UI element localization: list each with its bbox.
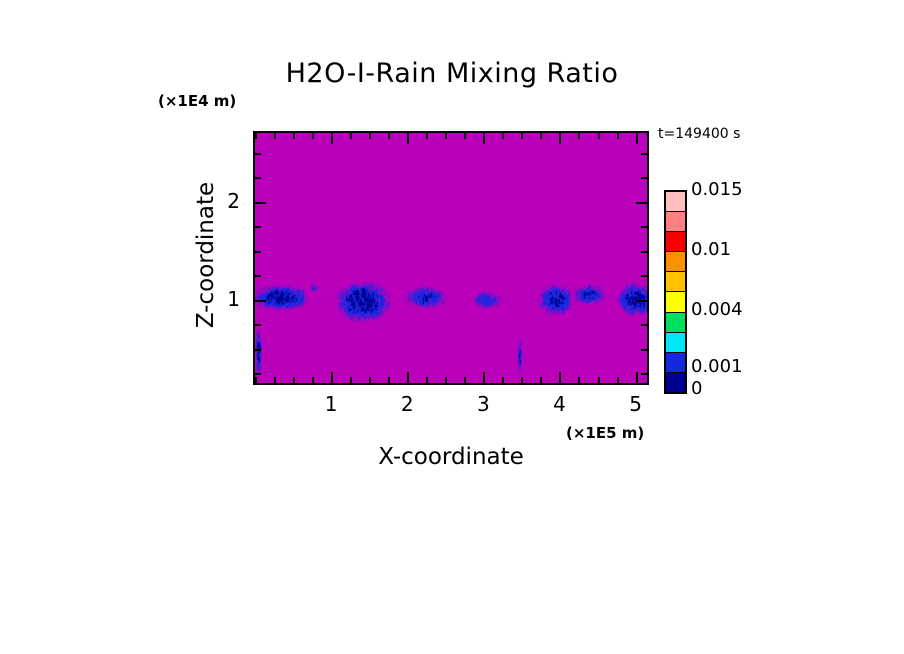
colorbar-band (666, 353, 685, 373)
x-major-tick (636, 372, 638, 383)
x-major-tick (559, 372, 561, 383)
colorbar-band (666, 252, 685, 272)
y-major-tick (255, 300, 266, 302)
y-minor-tick (255, 153, 261, 155)
y-minor-tick (255, 373, 261, 375)
y-major-tick (255, 202, 266, 204)
x-minor-tick (350, 377, 352, 383)
y-minor-tick-right (641, 275, 647, 277)
x-major-tick-top (407, 133, 409, 144)
x-axis-unit-label: (×1E5 m) (566, 424, 644, 442)
y-minor-tick (255, 349, 261, 351)
x-minor-tick (426, 377, 428, 383)
x-minor-tick (464, 377, 466, 383)
colorbar-band (666, 192, 685, 212)
x-minor-tick (445, 377, 447, 383)
y-axis-title: Z-coordinate (193, 95, 219, 415)
x-minor-tick (578, 377, 580, 383)
colorbar-band (666, 313, 685, 333)
y-minor-tick-right (641, 153, 647, 155)
x-minor-tick-top (578, 133, 580, 139)
colorbar-band (666, 272, 685, 292)
y-minor-tick (255, 251, 261, 253)
x-minor-tick-top (426, 133, 428, 139)
x-minor-tick (598, 377, 600, 383)
y-minor-tick-right (641, 349, 647, 351)
x-minor-tick-top (540, 133, 542, 139)
x-axis-title: X-coordinate (253, 444, 649, 470)
colorbar-tick-label: 0.004 (691, 299, 743, 320)
colorbar-band (666, 232, 685, 252)
colorbar-tick-label: 0.01 (691, 239, 731, 260)
colorbar-tick-label: 0.015 (691, 179, 743, 200)
x-minor-tick (293, 377, 295, 383)
x-minor-tick-top (369, 133, 371, 139)
x-major-tick-top (331, 133, 333, 144)
x-minor-tick (255, 377, 257, 383)
rain-mixing-ratio-field (255, 133, 647, 383)
x-minor-tick-top (445, 133, 447, 139)
colorbar-tick-label: 0 (691, 378, 702, 399)
x-minor-tick-top (464, 133, 466, 139)
colorbar (664, 190, 687, 394)
plot-area (253, 131, 649, 385)
x-minor-tick-top (521, 133, 523, 139)
y-minor-tick (255, 324, 261, 326)
x-tick-label: 5 (616, 392, 656, 416)
x-minor-tick (502, 377, 504, 383)
x-tick-label: 1 (311, 392, 351, 416)
y-minor-tick (255, 177, 261, 179)
y-major-tick-right (636, 300, 647, 302)
figure-root: H2O-I-Rain Mixing Ratio (×1E4 m) t=14940… (0, 0, 904, 654)
x-minor-tick-top (293, 133, 295, 139)
x-major-tick (483, 372, 485, 383)
y-minor-tick-right (641, 251, 647, 253)
x-tick-label: 4 (539, 392, 579, 416)
y-minor-tick (255, 226, 261, 228)
x-minor-tick (369, 377, 371, 383)
x-major-tick-top (559, 133, 561, 144)
x-minor-tick (521, 377, 523, 383)
colorbar-band (666, 333, 685, 353)
x-minor-tick-top (312, 133, 314, 139)
x-tick-label: 2 (387, 392, 427, 416)
x-minor-tick (540, 377, 542, 383)
x-tick-label: 3 (463, 392, 503, 416)
x-minor-tick-top (388, 133, 390, 139)
x-major-tick-top (636, 133, 638, 144)
colorbar-band (666, 373, 685, 392)
x-minor-tick (388, 377, 390, 383)
y-minor-tick-right (641, 226, 647, 228)
x-minor-tick-top (274, 133, 276, 139)
colorbar-tick-label: 0.001 (691, 356, 743, 377)
colorbar-band (666, 292, 685, 312)
x-major-tick (407, 372, 409, 383)
x-minor-tick (312, 377, 314, 383)
x-major-tick (331, 372, 333, 383)
y-minor-tick-right (641, 177, 647, 179)
y-minor-tick (255, 275, 261, 277)
x-minor-tick-top (617, 133, 619, 139)
x-major-tick-top (483, 133, 485, 144)
x-minor-tick-top (255, 133, 257, 139)
time-annotation: t=149400 s (658, 126, 740, 142)
x-minor-tick (617, 377, 619, 383)
x-minor-tick-top (598, 133, 600, 139)
page-title: H2O-I-Rain Mixing Ratio (0, 58, 904, 89)
x-minor-tick (274, 377, 276, 383)
colorbar-band (666, 212, 685, 232)
y-minor-tick-right (641, 373, 647, 375)
y-minor-tick-right (641, 324, 647, 326)
x-minor-tick-top (502, 133, 504, 139)
y-major-tick-right (636, 202, 647, 204)
x-minor-tick-top (350, 133, 352, 139)
